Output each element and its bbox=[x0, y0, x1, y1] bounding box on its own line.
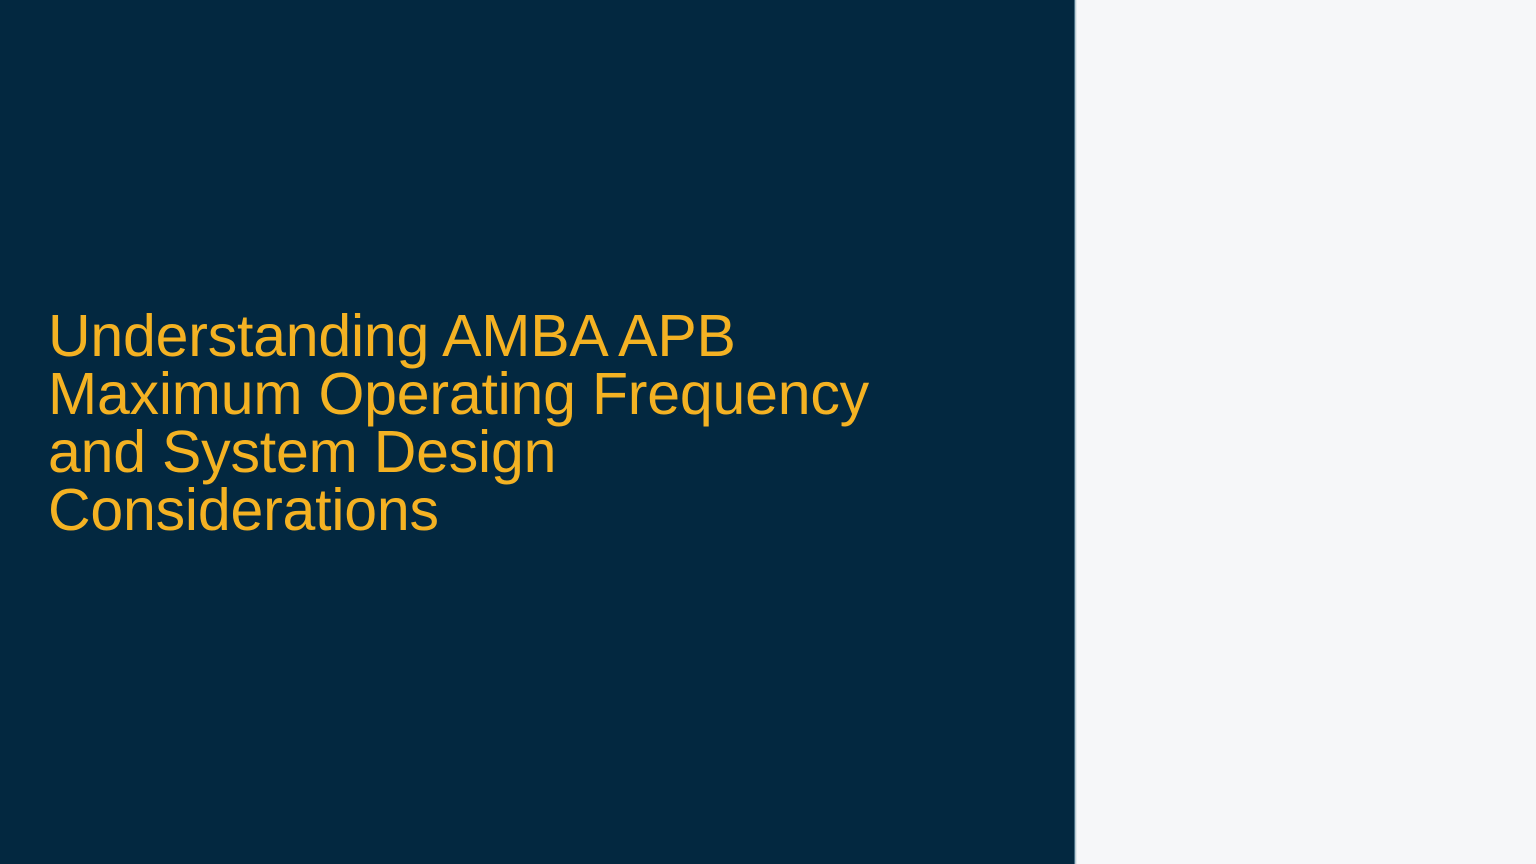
title-block: Understanding AMBA APB Maximum Operating… bbox=[0, 307, 1000, 539]
brand-panel: Architectures & Processors bbox=[1077, 0, 1536, 864]
title-panel: Understanding AMBA APB Maximum Operating… bbox=[0, 0, 1075, 864]
title-slide: Understanding AMBA APB Maximum Operating… bbox=[0, 0, 1536, 864]
page-title: Understanding AMBA APB Maximum Operating… bbox=[48, 307, 960, 539]
